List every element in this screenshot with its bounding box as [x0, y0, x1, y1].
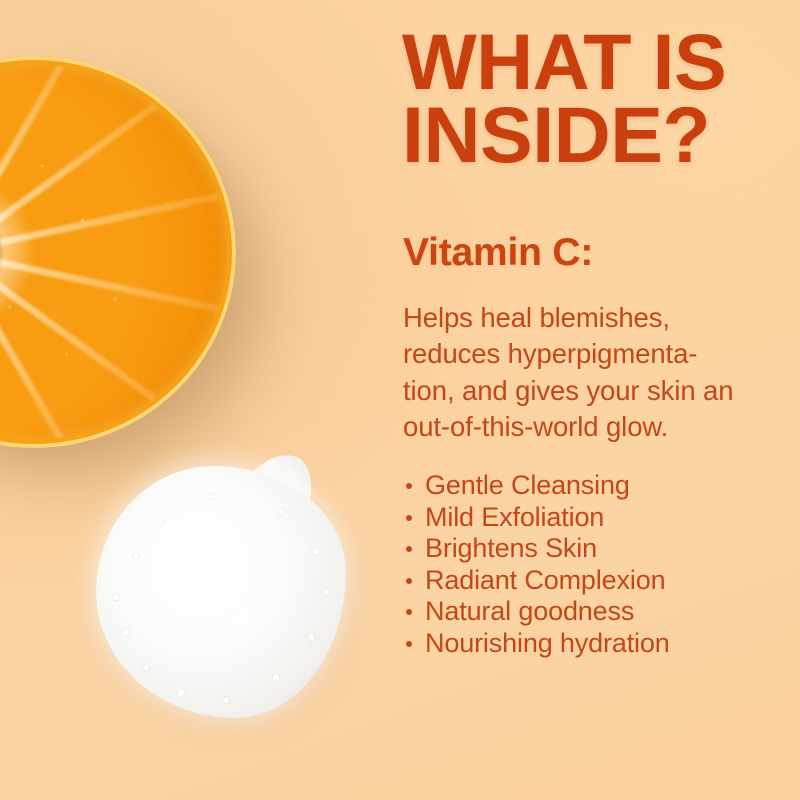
- page-title: WHAT IS INSIDE?: [402, 26, 788, 171]
- bullet-dot-icon: [406, 546, 412, 552]
- list-item: Brightens Skin: [403, 533, 670, 565]
- description-line: reduces hyperpigmenta-: [403, 336, 785, 372]
- list-item: Natural goodness: [403, 596, 670, 628]
- list-item: Gentle Cleansing: [403, 470, 670, 502]
- ingredient-description: Helps heal blemishes, reduces hyperpigme…: [403, 300, 785, 445]
- ingredient-subtitle: Vitamin C:: [403, 233, 593, 274]
- bullet-dot-icon: [406, 578, 412, 584]
- list-item: Mild Exfoliation: [403, 502, 670, 534]
- headline-line-1: WHAT IS: [402, 26, 788, 99]
- headline-line-2: INSIDE?: [402, 99, 788, 172]
- orange-slice-image: [0, 56, 236, 448]
- benefits-list: Gentle Cleansing Mild Exfoliation Bright…: [403, 470, 670, 659]
- bullet-dot-icon: [406, 641, 412, 647]
- text-column: WHAT IS INSIDE? Vitamin C: Helps heal bl…: [402, 0, 788, 800]
- list-item: Radiant Complexion: [403, 565, 670, 597]
- list-item-label: Natural goodness: [425, 596, 634, 626]
- bullet-dot-icon: [406, 483, 412, 489]
- list-item-label: Nourishing hydration: [425, 628, 670, 658]
- list-item-label: Radiant Complexion: [425, 565, 665, 595]
- product-benefits-poster: WHAT IS INSIDE? Vitamin C: Helps heal bl…: [0, 0, 800, 800]
- description-line: out-of-this-world glow.: [403, 409, 785, 445]
- list-item-label: Gentle Cleansing: [425, 470, 630, 500]
- list-item: Nourishing hydration: [403, 628, 670, 660]
- list-item-label: Brightens Skin: [425, 533, 597, 563]
- cleanser-foam-image: [96, 466, 350, 726]
- list-item-label: Mild Exfoliation: [425, 502, 604, 532]
- description-line: tion, and gives your skin an: [403, 373, 785, 409]
- bullet-dot-icon: [406, 515, 412, 521]
- bullet-dot-icon: [406, 609, 412, 615]
- description-line: Helps heal blemishes,: [403, 300, 785, 336]
